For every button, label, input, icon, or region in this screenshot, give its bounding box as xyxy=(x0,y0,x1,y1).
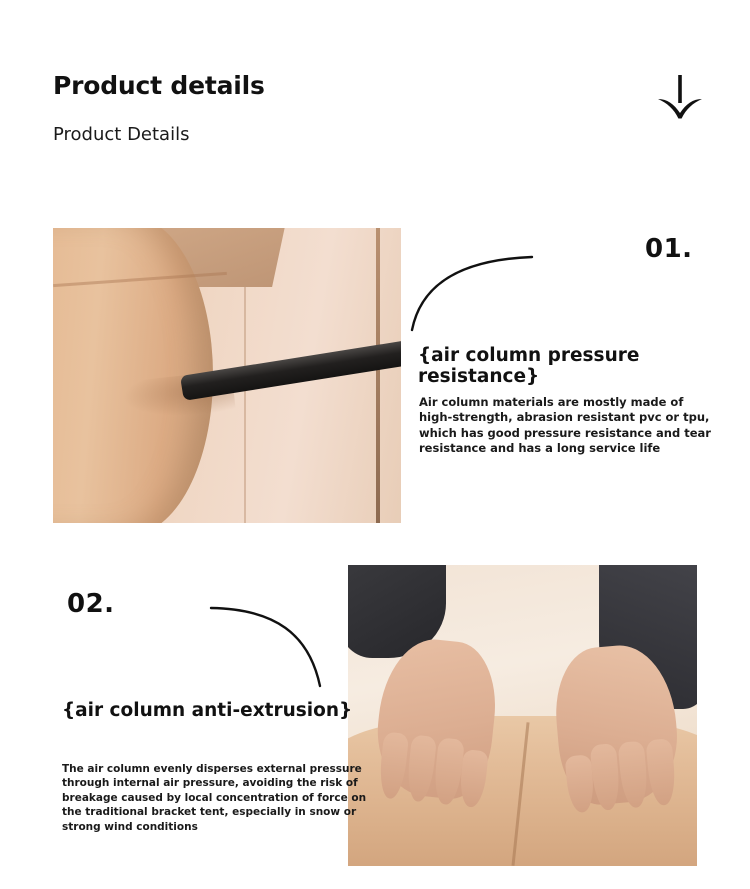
page-title: Product details xyxy=(53,71,265,100)
section-image-01 xyxy=(53,228,401,523)
body-line: high-strength, abrasion resistant pvc or… xyxy=(419,410,719,425)
body-line: which has good pressure resistance and t… xyxy=(419,426,719,441)
body-line: through internal air pressure, avoiding … xyxy=(62,776,354,790)
body-line: strong wind conditions xyxy=(62,820,354,834)
body-line: resistance and has a long service life xyxy=(419,441,719,456)
body-line: breakage caused by local concentration o… xyxy=(62,791,354,805)
page-subtitle: Product Details xyxy=(53,124,189,145)
section-body-02: The air column evenly disperses external… xyxy=(62,762,354,834)
body-line: The air column evenly disperses external… xyxy=(62,762,354,776)
section-heading-01: {air column pressure resistance} xyxy=(418,345,750,387)
product-details-page: Product details Product Details 01. {air… xyxy=(0,0,750,889)
section-number-02: 02. xyxy=(67,589,115,619)
section-number-01: 01. xyxy=(645,234,693,264)
connector-curve-02 xyxy=(205,600,335,690)
connector-curve-01 xyxy=(408,238,538,334)
section-body-01: Air column materials are mostly made of … xyxy=(419,395,719,456)
section-heading-02: {air column anti-extrusion} xyxy=(62,700,352,721)
body-line: Air column materials are mostly made of xyxy=(419,395,719,410)
arrow-down-icon xyxy=(652,73,708,121)
body-line: the traditional bracket tent, especially… xyxy=(62,805,354,819)
section-image-02 xyxy=(348,565,697,866)
